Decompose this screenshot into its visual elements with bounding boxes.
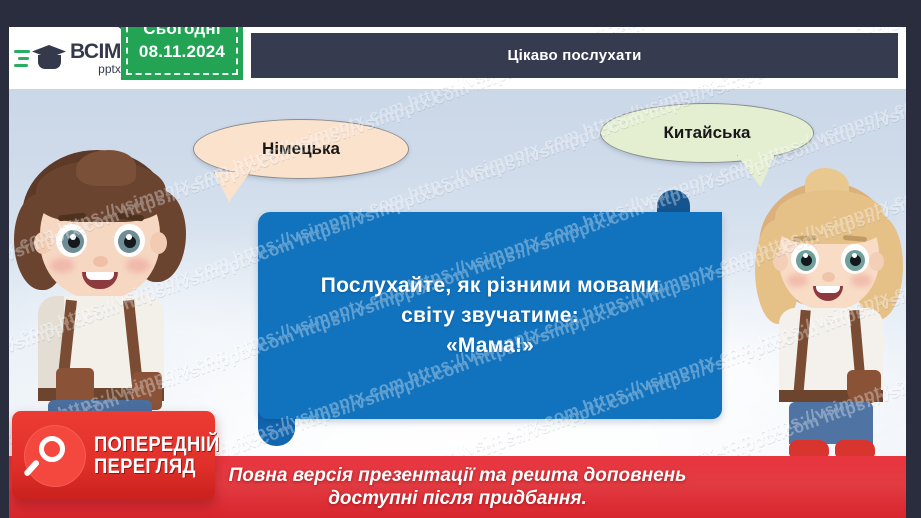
- scroll-banner: Послухайте, як різними мовами світу звуч…: [258, 190, 722, 445]
- banner-line-2: світу звучатиме:: [401, 304, 579, 328]
- banner-line-3: «Мама!»: [446, 334, 534, 358]
- preview-badge-text: ПОПЕРЕДНІЙ ПЕРЕГЛЯД: [94, 434, 237, 477]
- speed-lines-icon: [14, 50, 30, 67]
- frame-edge-left: [0, 0, 9, 518]
- slide-canvas: Німецька Китайська Послухайте, як різним…: [0, 0, 921, 518]
- preview-badge-line-1: ПОПЕРЕДНІЙ: [94, 434, 219, 455]
- character-girl: [755, 168, 905, 458]
- speech-bubble-chinese: Китайська: [600, 103, 814, 163]
- brand-logo[interactable]: ВСІМ pptx: [8, 27, 128, 89]
- magnifier-icon: [24, 425, 86, 487]
- banner-line-1: Послухайте, як різними мовами: [321, 274, 659, 298]
- bottom-notice-line-1: Повна версія презентації та решта доповн…: [229, 465, 687, 487]
- brand-logo-text: ВСІМ pptx: [70, 41, 121, 75]
- bottom-notice-line-2: доступні після придбання.: [328, 488, 587, 510]
- preview-badge[interactable]: ПОПЕРЕДНІЙ ПЕРЕГЛЯД: [12, 411, 215, 500]
- speech-bubble-german: Німецька: [193, 119, 409, 179]
- brand-suffix: pptx: [98, 63, 121, 75]
- brand-name: ВСІМ: [70, 41, 121, 62]
- page-title: Цікаво послухати: [507, 47, 641, 64]
- frame-edge-right: [906, 0, 921, 518]
- frame-edge-top: [0, 0, 921, 27]
- scroll-banner-body: Послухайте, як різними мовами світу звуч…: [258, 212, 722, 419]
- header-bar: Цікаво послухати: [251, 33, 898, 78]
- character-boy: [14, 150, 204, 450]
- bubble-label-chinese: Китайська: [664, 123, 751, 143]
- bubble-label-german: Німецька: [262, 139, 340, 159]
- preview-badge-line-2: ПЕРЕГЛЯД: [94, 456, 219, 477]
- date-badge-value: 08.11.2024: [139, 42, 225, 62]
- graduation-cap-icon: [32, 42, 68, 74]
